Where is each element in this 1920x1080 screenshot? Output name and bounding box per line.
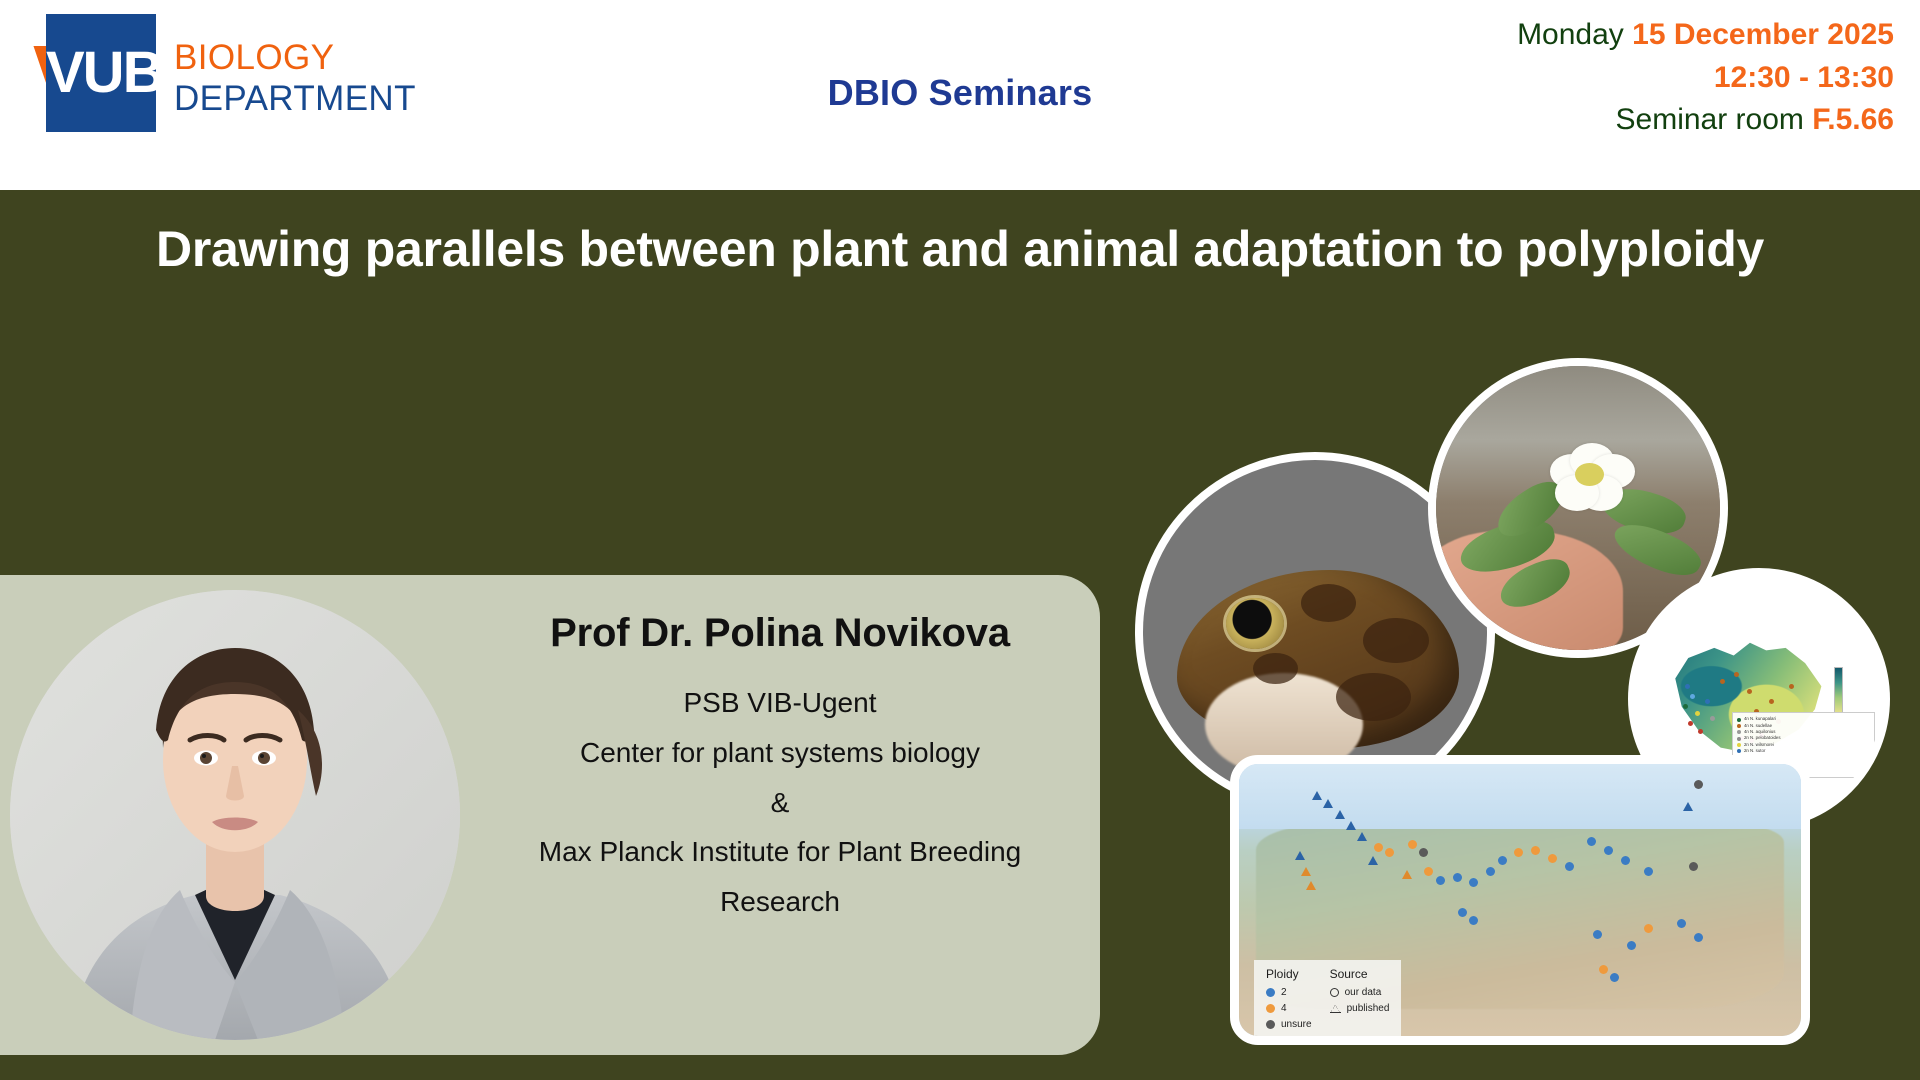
sample-marker-published — [1402, 870, 1412, 879]
sample-marker-published — [1368, 856, 1378, 865]
frog-spot — [1301, 584, 1356, 622]
aus-dot — [1747, 689, 1752, 694]
sample-marker-ourdata — [1627, 941, 1636, 950]
legend-swatch — [1266, 988, 1275, 997]
legend-swatch — [1737, 718, 1741, 722]
plant-flower-icon — [1550, 443, 1635, 511]
sample-marker-ourdata — [1453, 873, 1462, 882]
open-circle-icon — [1330, 988, 1339, 997]
aus-dot — [1698, 729, 1703, 734]
event-room-label: Seminar room — [1616, 103, 1804, 136]
speaker-affiliation-1: PSB VIB-Ugent — [460, 678, 1100, 728]
legend-swatch — [1266, 1020, 1275, 1029]
russia-map-canvas: Ploidy 2 4 unsure — [1239, 764, 1801, 1036]
sample-marker-published — [1346, 821, 1356, 830]
speaker-photo — [10, 590, 460, 1040]
sample-marker-ourdata — [1408, 840, 1417, 849]
legend-label: published — [1347, 1003, 1390, 1014]
sample-marker-published — [1323, 799, 1333, 808]
sample-marker-published — [1335, 810, 1345, 819]
sample-marker-ourdata — [1565, 862, 1574, 871]
legend-entry: published — [1330, 1003, 1390, 1014]
sample-marker-published — [1306, 881, 1316, 890]
event-date: 15 December 2025 — [1632, 18, 1894, 51]
sample-marker-ourdata — [1599, 965, 1608, 974]
sample-marker-ourdata — [1531, 846, 1540, 855]
legend-entry: our data — [1330, 987, 1390, 998]
legend-label: 4 — [1281, 1003, 1287, 1014]
legend-label: our data — [1345, 987, 1382, 998]
event-time: 12:30 - 13:30 — [1714, 61, 1894, 94]
speaker-name: Prof Dr. Polina Novikova — [460, 611, 1100, 656]
speaker-affiliation-5: Research — [460, 877, 1100, 927]
aus-dot — [1789, 684, 1794, 689]
sample-marker-unsure — [1689, 862, 1698, 871]
legend-label: unsure — [1281, 1019, 1312, 1030]
legend-entry: 4 — [1266, 1003, 1312, 1014]
legend-label: 2 — [1281, 987, 1287, 998]
russia-map: Ploidy 2 4 unsure — [1230, 755, 1810, 1045]
open-triangle-icon — [1330, 1004, 1341, 1014]
speaker-affiliation-3: & — [460, 778, 1100, 828]
sample-marker-ourdata — [1548, 854, 1557, 863]
legend-swatch — [1737, 749, 1741, 753]
event-time-row: 12:30 - 13:30 — [1517, 57, 1894, 100]
event-meta: Monday 15 December 2025 12:30 - 13:30 Se… — [1517, 14, 1894, 142]
aus-dot — [1720, 679, 1725, 684]
sample-marker-ourdata — [1436, 876, 1445, 885]
legend-swatch — [1737, 737, 1741, 741]
event-date-row: Monday 15 December 2025 — [1517, 14, 1894, 57]
legend-entry: 2 — [1266, 987, 1312, 998]
ploidy-legend-column: Ploidy 2 4 unsure — [1266, 967, 1312, 1030]
legend-swatch — [1737, 730, 1741, 734]
speaker-card: Prof Dr. Polina Novikova PSB VIB-Ugent C… — [0, 575, 1100, 1055]
sample-marker-published — [1357, 832, 1367, 841]
poster-header: VUB BIOLOGY DEPARTMENT DBIO Seminars Mon… — [0, 0, 1920, 190]
speaker-affiliation-2: Center for plant systems biology — [460, 728, 1100, 778]
sample-marker-ourdata — [1644, 867, 1653, 876]
speaker-affiliation-4: Max Planck Institute for Plant Breeding — [460, 827, 1100, 877]
poster-body: Drawing parallels between plant and anim… — [0, 190, 1920, 1080]
sample-marker-ourdata — [1604, 846, 1613, 855]
legend-entry: unsure — [1266, 1019, 1312, 1030]
legend-swatch — [1737, 743, 1741, 747]
arctic-ocean — [1239, 764, 1801, 829]
sample-marker-ourdata — [1498, 856, 1507, 865]
event-day-label: Monday — [1517, 18, 1624, 51]
sample-marker-published — [1683, 802, 1693, 811]
source-legend-heading: Source — [1330, 967, 1390, 981]
sample-marker-published — [1295, 851, 1305, 860]
frog-spot — [1363, 618, 1428, 663]
legend-swatch — [1737, 724, 1741, 728]
frog-eye-icon — [1226, 598, 1284, 650]
speaker-portrait-illustration — [10, 590, 460, 1040]
precipitation-colorbar — [1834, 667, 1843, 713]
legend-swatch — [1266, 1004, 1275, 1013]
frog-spot — [1253, 653, 1298, 684]
speaker-details: Prof Dr. Polina Novikova PSB VIB-Ugent C… — [460, 611, 1100, 927]
source-legend-column: Source our data published — [1330, 967, 1390, 1030]
ploidy-legend-heading: Ploidy — [1266, 967, 1312, 981]
aus-dot — [1683, 704, 1688, 709]
ploidy-legend: Ploidy 2 4 unsure — [1254, 960, 1401, 1038]
sample-marker-published — [1301, 867, 1311, 876]
sample-marker-published — [1312, 791, 1322, 800]
sample-marker-ourdata — [1593, 930, 1602, 939]
event-room-row: Seminar room F.5.66 — [1517, 99, 1894, 142]
aus-dot — [1769, 699, 1774, 704]
aus-dot — [1705, 699, 1710, 704]
aus-dot — [1688, 721, 1693, 726]
sample-marker-ourdata — [1374, 843, 1383, 852]
sample-marker-ourdata — [1694, 933, 1703, 942]
event-room: F.5.66 — [1812, 103, 1894, 136]
